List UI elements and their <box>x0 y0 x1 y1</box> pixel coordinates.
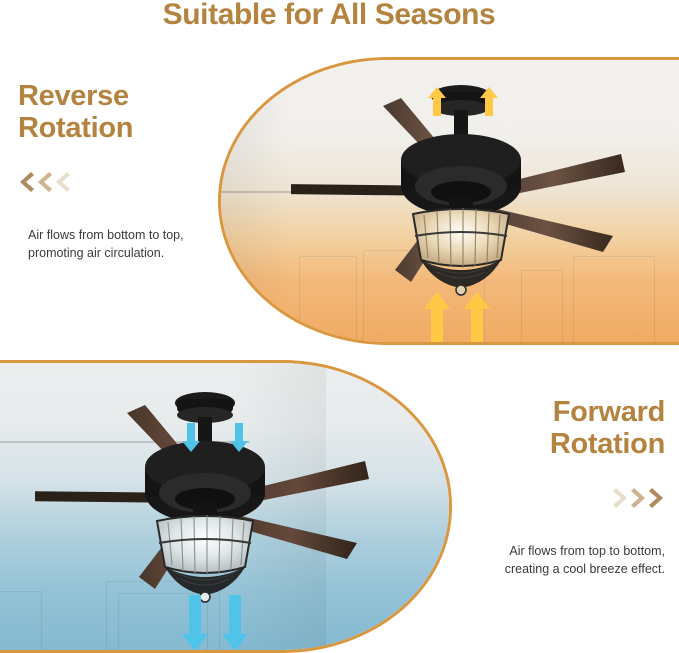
chevron-left-icon <box>18 171 35 193</box>
forward-rotation-heading: Forward Rotation <box>445 396 665 461</box>
forward-rotation-image-panel <box>0 360 452 653</box>
chevron-left-icon <box>36 171 53 193</box>
corner-shade <box>221 60 291 345</box>
arrow-down-icon <box>222 595 248 651</box>
arrow-down-icon <box>182 423 200 452</box>
forward-rotation-callout: Forward Rotation Air flows from top to b… <box>445 396 665 578</box>
reverse-rotation-image-panel <box>218 57 679 345</box>
arrow-up-icon <box>428 87 446 116</box>
arrow-down-icon <box>230 423 248 452</box>
reverse-rotation-callout: Reverse Rotation Air flows from bottom t… <box>18 80 218 262</box>
ceiling-fan-icon <box>291 68 631 303</box>
chevron-left-icon <box>54 171 71 193</box>
arrow-up-icon <box>424 292 450 345</box>
arrow-up-icon <box>464 292 490 345</box>
reverse-chevron-group <box>18 171 218 193</box>
forward-chevron-group <box>445 487 665 509</box>
forward-rotation-body: Air flows from top to bottom, creating a… <box>445 543 665 579</box>
chevron-right-icon <box>612 487 629 509</box>
infographic-page: Suitable for All Seasons <box>0 0 679 653</box>
chevron-right-icon <box>648 487 665 509</box>
ceiling-fan-icon <box>35 375 375 610</box>
cool-room-scene <box>0 363 449 650</box>
reverse-rotation-body: Air flows from bottom to top, promoting … <box>28 227 218 263</box>
arrow-up-icon <box>480 87 498 116</box>
warm-room-scene <box>221 60 679 342</box>
chevron-right-icon <box>630 487 647 509</box>
arrow-down-icon <box>182 595 208 651</box>
reverse-rotation-heading: Reverse Rotation <box>18 80 218 145</box>
page-title: Suitable for All Seasons <box>0 0 658 32</box>
